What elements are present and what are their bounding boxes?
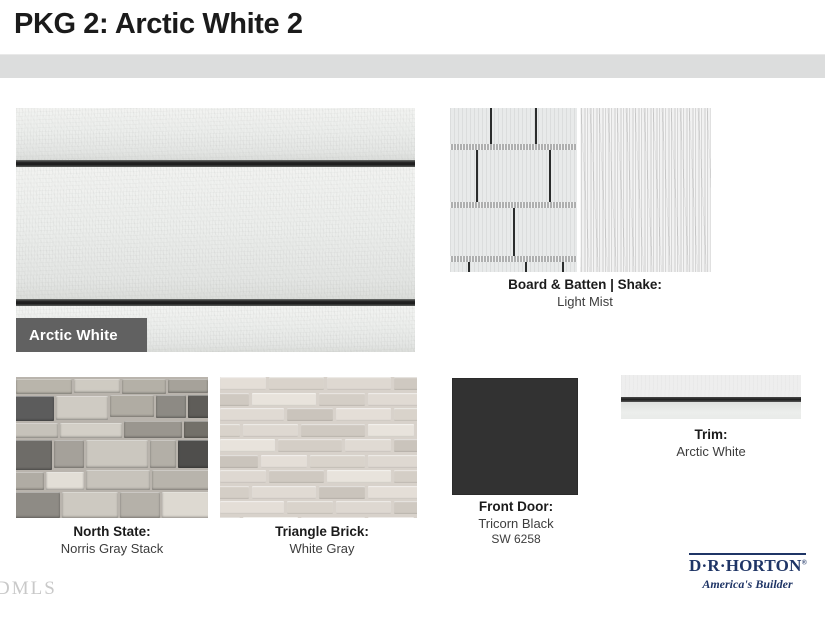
brick-unit — [368, 486, 417, 499]
main-siding-image — [16, 108, 415, 352]
caption-brick-subtitle: White Gray — [210, 541, 434, 557]
caption-trim-subtitle: Arctic White — [620, 444, 802, 460]
caption-board-batten-title: Board & Batten | Shake: — [440, 277, 730, 294]
brick-unit — [394, 408, 417, 421]
caption-stone-subtitle: Norris Gray Stack — [0, 541, 224, 557]
caption-brick-title: Triangle Brick: — [210, 524, 434, 541]
brick-unit — [220, 393, 249, 406]
brick-unit — [220, 424, 240, 437]
brick-unit — [220, 439, 275, 452]
arctic-white-badge: Arctic White — [16, 318, 147, 352]
brick-unit — [220, 408, 284, 421]
brick-unit — [252, 486, 316, 499]
brick-unit — [327, 377, 391, 390]
brick-unit — [261, 455, 307, 468]
brick-unit — [319, 393, 365, 406]
brick-unit — [319, 486, 365, 499]
brick-unit — [368, 424, 414, 437]
brick-unit — [301, 424, 365, 437]
brick-unit — [220, 455, 258, 468]
brick-unit — [220, 501, 284, 514]
brick-unit — [336, 408, 391, 421]
caption-stone: North State: Norris Gray Stack — [0, 524, 224, 557]
arctic-white-badge-label: Arctic White — [29, 327, 118, 344]
brick-unit — [269, 470, 324, 483]
trim-swatch-image — [621, 375, 801, 419]
caption-board-batten-subtitle: Light Mist — [440, 294, 730, 310]
stone-swatch-image — [16, 377, 208, 518]
board-batten-swatch-image — [580, 108, 711, 272]
caption-trim: Trim: Arctic White — [620, 427, 802, 460]
logo-name-text: D·R·HORTON — [689, 556, 802, 575]
logo-tagline: America's Builder — [689, 577, 806, 592]
brick-unit — [220, 517, 240, 519]
caption-board-batten: Board & Batten | Shake: Light Mist — [440, 277, 730, 310]
brick-unit — [278, 439, 342, 452]
brick-unit — [243, 517, 298, 519]
brick-unit — [220, 470, 266, 483]
page-title: PKG 2: Arctic White 2 — [14, 8, 303, 41]
logo-name: D·R·HORTON® — [689, 557, 806, 576]
brick-unit — [394, 501, 417, 514]
caption-front-door-subtitle: Tricorn Black — [440, 516, 592, 532]
header-gray-band — [0, 55, 825, 78]
brick-unit — [368, 455, 417, 468]
logo-top-rule — [689, 553, 806, 555]
brick-swatch-image — [220, 377, 417, 518]
watermark: DMLS — [0, 578, 57, 600]
caption-front-door: Front Door: Tricorn Black SW 6258 — [440, 499, 592, 547]
caption-stone-title: North State: — [0, 524, 224, 541]
caption-front-door-title: Front Door: — [440, 499, 592, 516]
dr-horton-logo: D·R·HORTON® America's Builder — [689, 553, 806, 592]
brick-unit — [287, 408, 333, 421]
brick-unit — [220, 377, 266, 390]
brick-unit — [301, 517, 365, 519]
brick-unit — [345, 439, 391, 452]
brick-unit — [394, 377, 417, 390]
brick-unit — [327, 470, 391, 483]
caption-front-door-code: SW 6258 — [440, 532, 592, 547]
brick-unit — [394, 470, 417, 483]
brick-unit — [368, 393, 417, 406]
shake-swatch-image — [450, 108, 577, 272]
brick-unit — [368, 517, 414, 519]
caption-brick: Triangle Brick: White Gray — [210, 524, 434, 557]
flyer-page: PKG 2: Arctic White 2 Arctic White — [0, 0, 825, 619]
brick-unit — [287, 501, 333, 514]
caption-trim-title: Trim: — [620, 427, 802, 444]
brick-unit — [220, 486, 249, 499]
brick-unit — [394, 439, 417, 452]
brick-unit — [243, 424, 298, 437]
front-door-color-swatch — [452, 378, 578, 495]
brick-unit — [252, 393, 316, 406]
brick-unit — [269, 377, 324, 390]
brick-unit — [336, 501, 391, 514]
brick-unit — [310, 455, 365, 468]
